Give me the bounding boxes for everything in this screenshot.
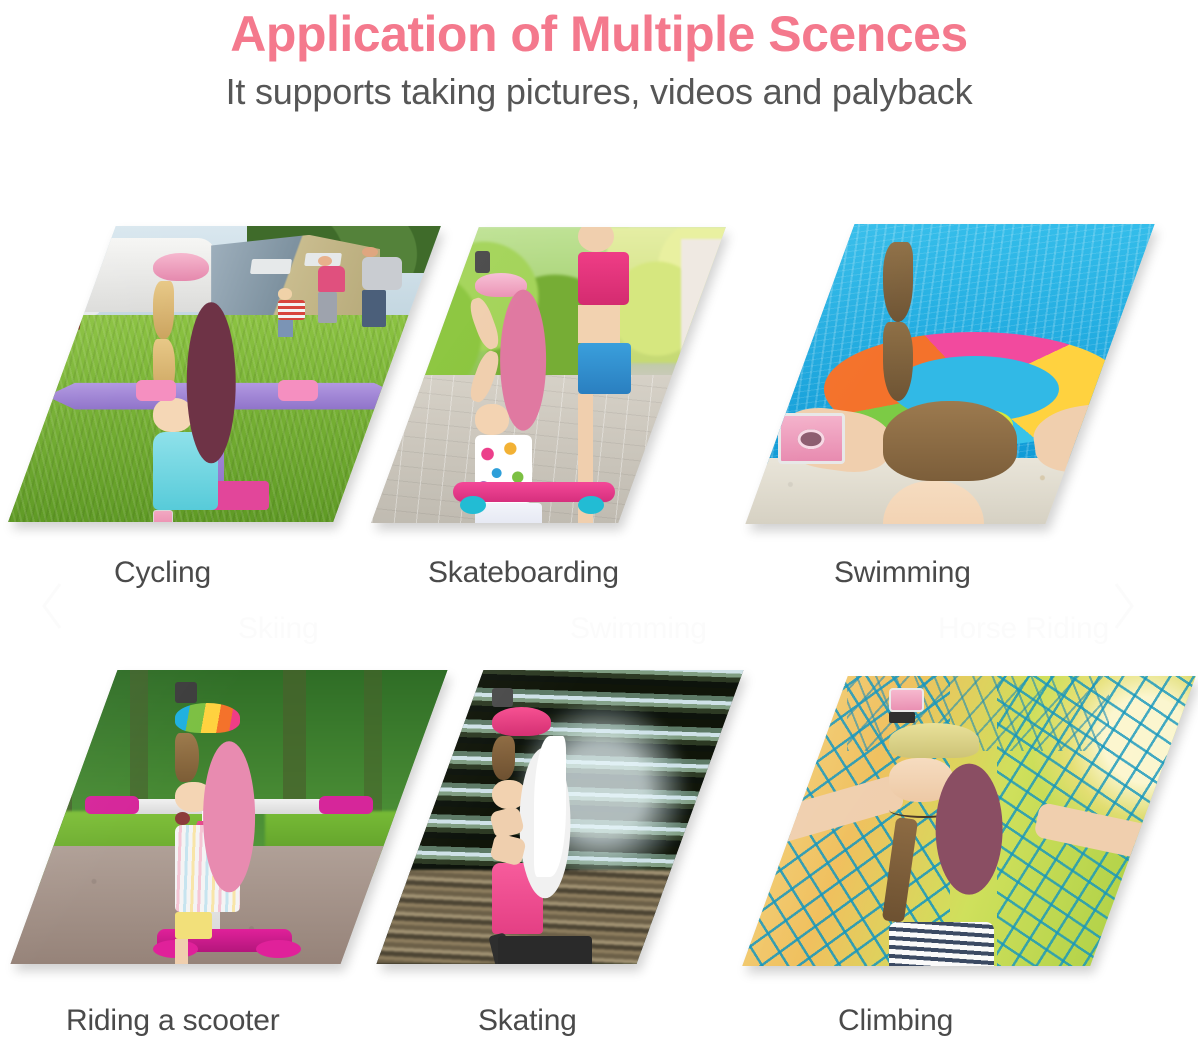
kids-action-camera xyxy=(778,413,845,464)
rainbow-helmet xyxy=(175,703,240,733)
kids-action-camera xyxy=(492,688,513,707)
ghost-caption-skiing: Skiing xyxy=(238,612,319,646)
scene-tile-swimming[interactable] xyxy=(745,224,1154,524)
scene-tile-riding-a-scooter[interactable] xyxy=(10,670,447,964)
ghost-caption-horse-riding: Horse Riding xyxy=(938,612,1109,646)
background-adult-woman xyxy=(318,256,349,321)
scene-tile-skating[interactable] xyxy=(376,670,743,964)
caption-cycling: Cycling xyxy=(114,556,211,590)
photo-riding-a-scooter xyxy=(10,670,447,964)
helmet xyxy=(492,707,552,737)
photo-climbing xyxy=(742,676,1196,966)
wall xyxy=(681,239,726,375)
photo-skating xyxy=(376,670,743,964)
climbing-helmet xyxy=(889,723,978,758)
scene-tile-cycling[interactable] xyxy=(8,226,441,522)
ghost-caption-swimming: Swimming xyxy=(570,612,707,646)
skateboard-wheel xyxy=(578,496,604,514)
kids-action-camera xyxy=(889,688,924,713)
helmet xyxy=(153,253,209,282)
girl-rollerblading xyxy=(492,688,598,958)
background-adult-man xyxy=(362,247,402,324)
photo-cycling xyxy=(8,226,441,522)
photo-swimming xyxy=(745,224,1154,524)
caption-riding-a-scooter: Riding a scooter xyxy=(66,1004,280,1038)
cooler-box xyxy=(24,321,64,336)
girl-skateboarder xyxy=(475,251,570,494)
girl-on-scooter xyxy=(175,682,283,952)
scene-gallery: Cycling Skateboarding Swimming Riding a … xyxy=(0,0,1198,1048)
caption-skateboarding: Skateboarding xyxy=(428,556,619,590)
caption-swimming: Swimming xyxy=(834,556,971,590)
camp-chair-red xyxy=(29,279,87,329)
background-child xyxy=(278,288,305,335)
chevron-right-icon[interactable] xyxy=(1106,578,1140,634)
kids-action-camera xyxy=(475,251,490,273)
caption-skating: Skating xyxy=(478,1004,577,1038)
kids-action-camera xyxy=(175,682,197,704)
camera-mount xyxy=(889,712,914,723)
girl-swimmer xyxy=(883,242,1051,476)
chevron-left-icon[interactable] xyxy=(36,578,70,634)
camp-chair-blue xyxy=(42,264,82,294)
older-girl xyxy=(578,227,673,499)
scene-tile-climbing[interactable] xyxy=(742,676,1196,966)
kids-action-camera xyxy=(153,510,173,522)
caption-climbing: Climbing xyxy=(838,1004,953,1038)
girl-climbing xyxy=(889,688,1048,961)
